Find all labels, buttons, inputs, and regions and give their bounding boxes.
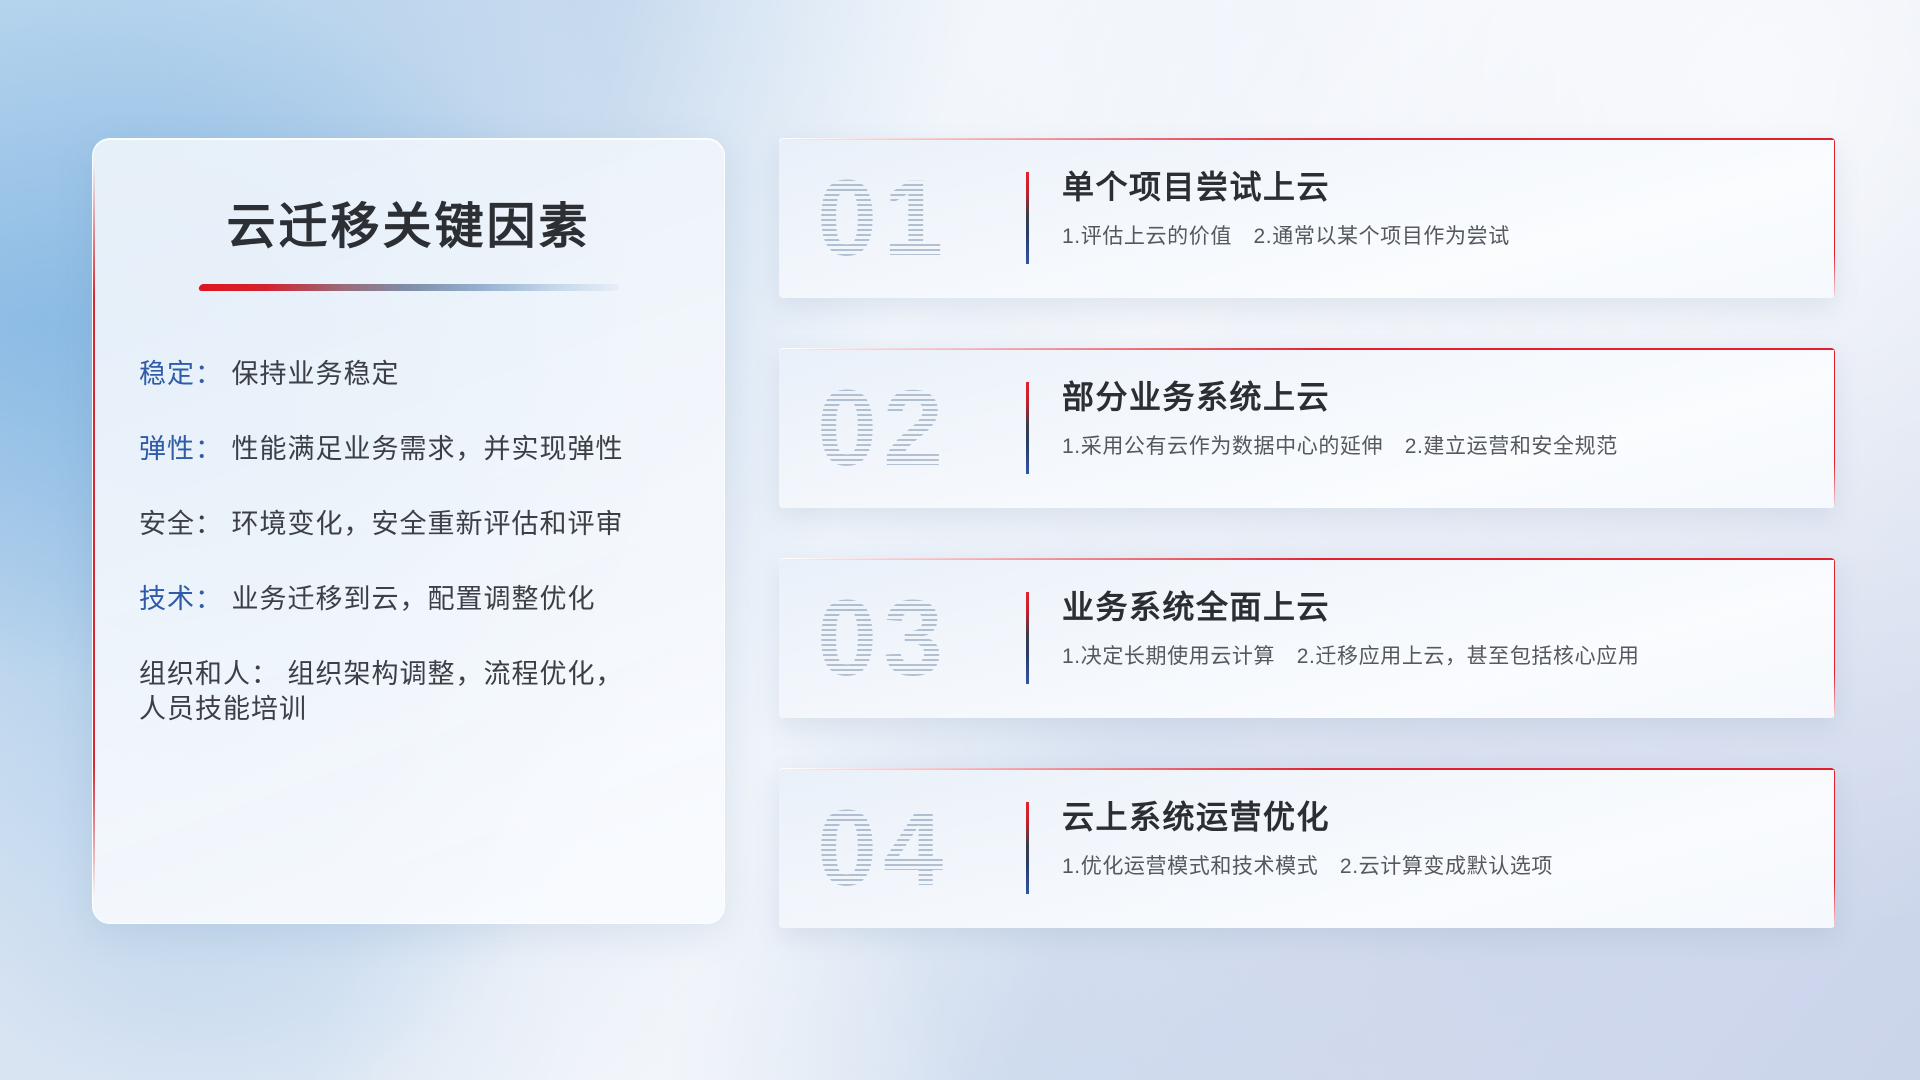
stage-number-watermark-01: 01 xyxy=(817,164,949,272)
stage-subtitle-03: 1.决定长期使用云计算 2.迁移应用上云，甚至包括核心应用 xyxy=(1062,643,1795,670)
stage-subtitle-01: 1.评估上云的价值 2.通常以某个项目作为尝试 xyxy=(1062,223,1795,250)
factor-key-technology: 技术： xyxy=(139,584,223,614)
stage-card-body-03: 业务系统全面上云 1.决定长期使用云计算 2.迁移应用上云，甚至包括核心应用 xyxy=(1062,590,1795,670)
factor-item-security: 安全： 环境变化，安全重新评估和评审 xyxy=(139,507,724,542)
stage-accent-divider-03 xyxy=(1026,592,1029,684)
factor-item-organization: 组织和人： 组织架构调整，流程优化， 人员技能培训 xyxy=(139,657,724,727)
factor-item-elasticity: 弹性： 性能满足业务需求，并实现弹性 xyxy=(139,432,724,467)
stage-card-02[interactable]: 02 部分业务系统上云 1.采用公有云作为数据中心的延伸 2.建立运营和安全规范 xyxy=(779,348,1835,508)
factor-key-organization: 组织和人： xyxy=(139,659,279,689)
stage-card-01[interactable]: 01 单个项目尝试上云 1.评估上云的价值 2.通常以某个项目作为尝试 xyxy=(779,138,1835,298)
panel-left-accent-bar xyxy=(93,165,95,897)
factor-key-security: 安全： xyxy=(139,509,223,539)
stage-accent-divider-04 xyxy=(1026,802,1029,894)
factor-item-stability: 稳定： 保持业务稳定 xyxy=(139,357,724,392)
stage-card-04[interactable]: 04 云上系统运营优化 1.优化运营模式和技术模式 2.云计算变成默认选项 xyxy=(779,768,1835,928)
key-factors-panel: 云迁移关键因素 稳定： 保持业务稳定 弹性： 性能满足业务需求，并实现弹性 安全… xyxy=(92,138,725,924)
stage-card-body-02: 部分业务系统上云 1.采用公有云作为数据中心的延伸 2.建立运营和安全规范 xyxy=(1062,380,1795,460)
stage-title-02: 部分业务系统上云 xyxy=(1062,380,1795,415)
stage-title-01: 单个项目尝试上云 xyxy=(1062,170,1795,205)
stage-subtitle-02: 1.采用公有云作为数据中心的延伸 2.建立运营和安全规范 xyxy=(1062,433,1795,460)
factor-text-stability: 保持业务稳定 xyxy=(223,359,400,389)
stage-number-watermark-04: 04 xyxy=(817,794,949,902)
factor-text-technology: 业务迁移到云，配置调整优化 xyxy=(223,584,596,614)
stage-title-03: 业务系统全面上云 xyxy=(1062,590,1795,625)
stage-card-body-04: 云上系统运营优化 1.优化运营模式和技术模式 2.云计算变成默认选项 xyxy=(1062,800,1795,880)
factor-text-elasticity: 性能满足业务需求，并实现弹性 xyxy=(223,434,624,464)
stage-number-watermark-03: 03 xyxy=(817,584,949,692)
factor-list: 稳定： 保持业务稳定 弹性： 性能满足业务需求，并实现弹性 安全： 环境变化，安… xyxy=(93,357,724,728)
slide-root: 云迁移关键因素 稳定： 保持业务稳定 弹性： 性能满足业务需求，并实现弹性 安全… xyxy=(0,0,1920,1080)
stage-number-watermark-02: 02 xyxy=(817,374,949,482)
factor-key-stability: 稳定： xyxy=(139,359,223,389)
stage-title-04: 云上系统运营优化 xyxy=(1062,800,1795,835)
page-title: 云迁移关键因素 xyxy=(93,187,724,258)
stage-accent-divider-02 xyxy=(1026,382,1029,474)
stage-card-03[interactable]: 03 业务系统全面上云 1.决定长期使用云计算 2.迁移应用上云，甚至包括核心应… xyxy=(779,558,1835,718)
stage-accent-divider-01 xyxy=(1026,172,1029,264)
factor-key-elasticity: 弹性： xyxy=(139,434,223,464)
stage-card-body-01: 单个项目尝试上云 1.评估上云的价值 2.通常以某个项目作为尝试 xyxy=(1062,170,1795,250)
migration-stage-cards: 01 单个项目尝试上云 1.评估上云的价值 2.通常以某个项目作为尝试 02 部… xyxy=(779,138,1835,978)
factor-text-security: 环境变化，安全重新评估和评审 xyxy=(223,509,624,539)
factor-item-technology: 技术： 业务迁移到云，配置调整优化 xyxy=(139,582,724,617)
title-underline-rule xyxy=(197,284,619,291)
stage-subtitle-04: 1.优化运营模式和技术模式 2.云计算变成默认选项 xyxy=(1062,853,1795,880)
